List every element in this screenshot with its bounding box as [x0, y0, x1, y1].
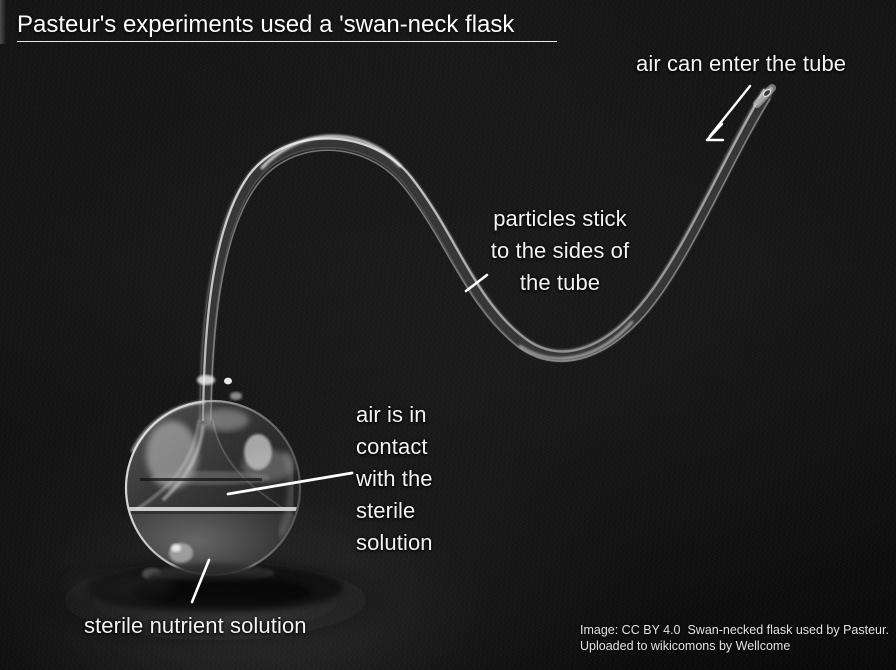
annotation-air-can-enter-tube: air can enter the tube [636, 48, 846, 80]
caption-line-2: Uploaded to wikicomons by Wellcome [580, 639, 790, 653]
annotation-particles-stick: particles stick to the sides of the tube [478, 203, 642, 299]
slide-title: Pasteur's experiments used a 'swan-neck … [17, 10, 514, 40]
swan-neck-flask-photo [0, 0, 896, 670]
annotation-air-in-contact: air is in contact with the sterile solut… [356, 399, 433, 559]
annotation-sterile-nutrient-solution: sterile nutrient solution [84, 610, 307, 642]
slide-title-underline [17, 41, 557, 42]
caption-line-1: Image: CC BY 4.0 Swan-necked flask used … [580, 623, 889, 637]
slide-canvas: Pasteur's experiments used a 'swan-neck … [0, 0, 896, 670]
image-credit-caption: Image: CC BY 4.0 Swan-necked flask used … [580, 622, 889, 654]
